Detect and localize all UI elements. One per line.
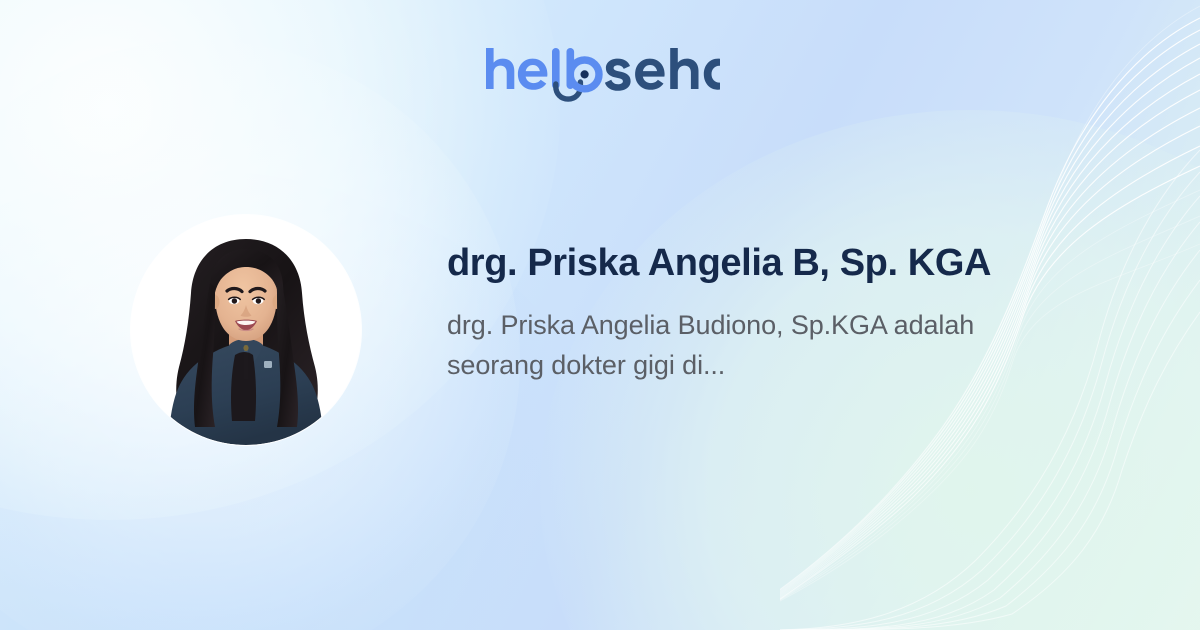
pupil-left: [232, 298, 237, 303]
scrub-badge: [264, 361, 272, 368]
collar-button: [243, 345, 248, 351]
avatar-portrait: [131, 215, 361, 445]
pupil-right: [256, 298, 261, 303]
page-excerpt: drg. Priska Angelia Budiono, Sp.KGA adal…: [447, 305, 992, 385]
card-content: drg. Priska Angelia B, Sp. KGA drg. Pris…: [447, 240, 1027, 385]
og-share-card: drg. Priska Angelia B, Sp. KGA drg. Pris…: [0, 0, 1200, 630]
hellosehat-logo[interactable]: [484, 44, 720, 102]
page-title: drg. Priska Angelia B, Sp. KGA: [447, 240, 1027, 286]
hellosehat-logo-mark: [484, 44, 720, 102]
stethoscope-chestpiece-center-icon: [581, 70, 589, 78]
hair-front-drape: [231, 352, 256, 421]
avatar: [131, 215, 361, 445]
